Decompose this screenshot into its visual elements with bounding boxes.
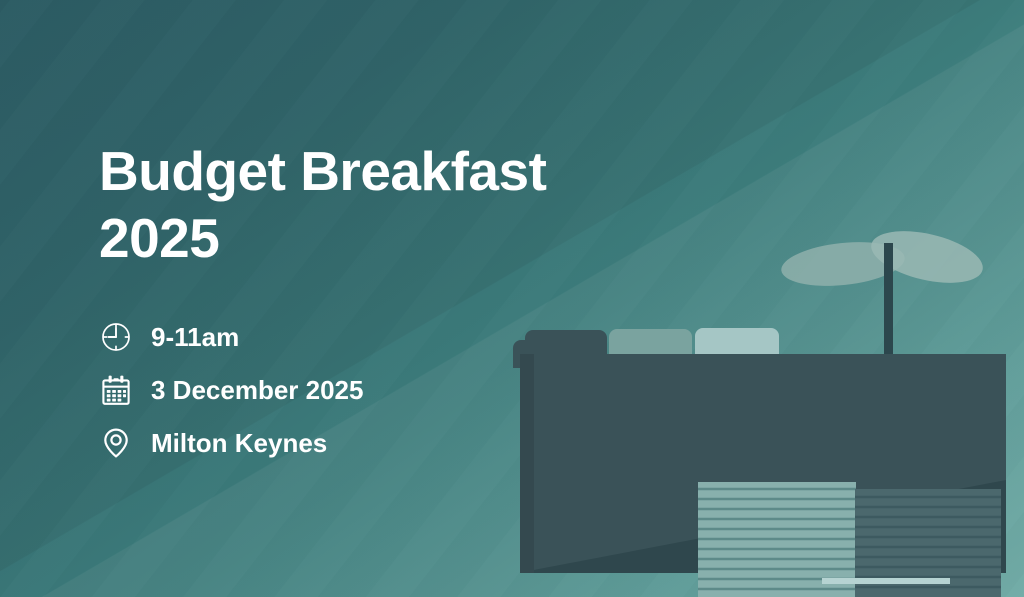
detail-value-time: 9-11am bbox=[151, 322, 239, 353]
event-details-list: 9-11am bbox=[99, 320, 546, 460]
folder-tab-medium bbox=[609, 329, 692, 354]
detail-row-time: 9-11am bbox=[99, 320, 546, 354]
event-title-line-2: 2025 bbox=[99, 207, 219, 269]
calendar-icon bbox=[99, 373, 133, 407]
detail-value-date: 3 December 2025 bbox=[151, 375, 363, 406]
clock-icon bbox=[99, 320, 133, 354]
location-icon bbox=[99, 426, 133, 460]
paper-sheet-highlight bbox=[822, 578, 950, 584]
event-title-line-1: Budget Breakfast bbox=[99, 140, 546, 202]
detail-row-date: 3 December 2025 bbox=[99, 373, 546, 407]
detail-value-location: Milton Keynes bbox=[151, 428, 327, 459]
page-title: Budget Breakfast2025 bbox=[99, 138, 546, 272]
event-banner: Budget Breakfast2025 9-11am bbox=[0, 0, 1024, 597]
detail-row-location: Milton Keynes bbox=[99, 426, 546, 460]
folder-tab-light bbox=[695, 328, 779, 354]
banner-text-block: Budget Breakfast2025 9-11am bbox=[99, 138, 546, 460]
